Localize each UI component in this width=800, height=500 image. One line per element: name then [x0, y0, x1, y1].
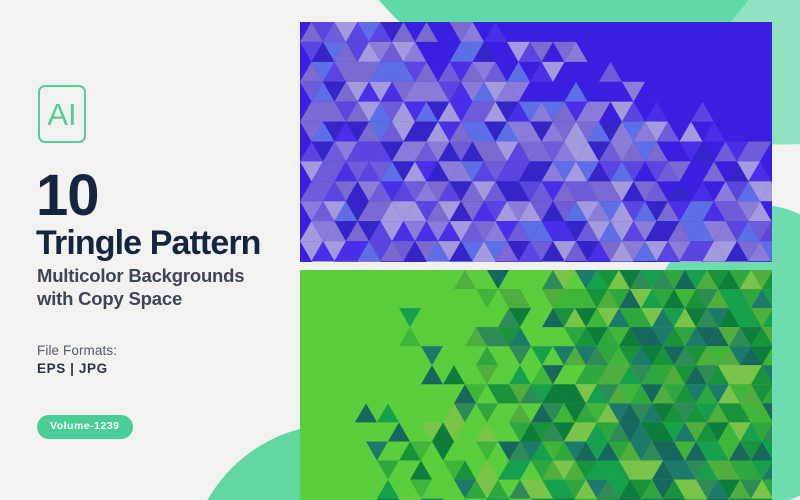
page-subtitle: Multicolor Backgrounds with Copy Space: [37, 265, 297, 310]
preview-panel-blue[interactable]: [300, 22, 772, 262]
subtitle-line-1: Multicolor Backgrounds: [37, 265, 244, 286]
poster-canvas: AI 10 Tringle Pattern Multicolor Backgro…: [0, 0, 800, 500]
item-count: 10: [36, 167, 99, 225]
file-formats-label: File Formats:: [37, 343, 117, 358]
volume-badge: Volume-1239: [37, 415, 133, 439]
preview-panel-green[interactable]: [300, 270, 772, 500]
file-formats-value: EPS | JPG: [37, 361, 108, 376]
green-triangle-mosaic: [300, 270, 772, 500]
subtitle-line-2: with Copy Space: [37, 288, 182, 309]
blue-triangle-mosaic: [300, 22, 772, 262]
ai-badge-label: AI: [47, 99, 76, 130]
ai-format-badge: AI: [38, 85, 86, 143]
info-column: AI 10 Tringle Pattern Multicolor Backgro…: [36, 0, 298, 500]
page-title: Tringle Pattern: [36, 226, 261, 260]
